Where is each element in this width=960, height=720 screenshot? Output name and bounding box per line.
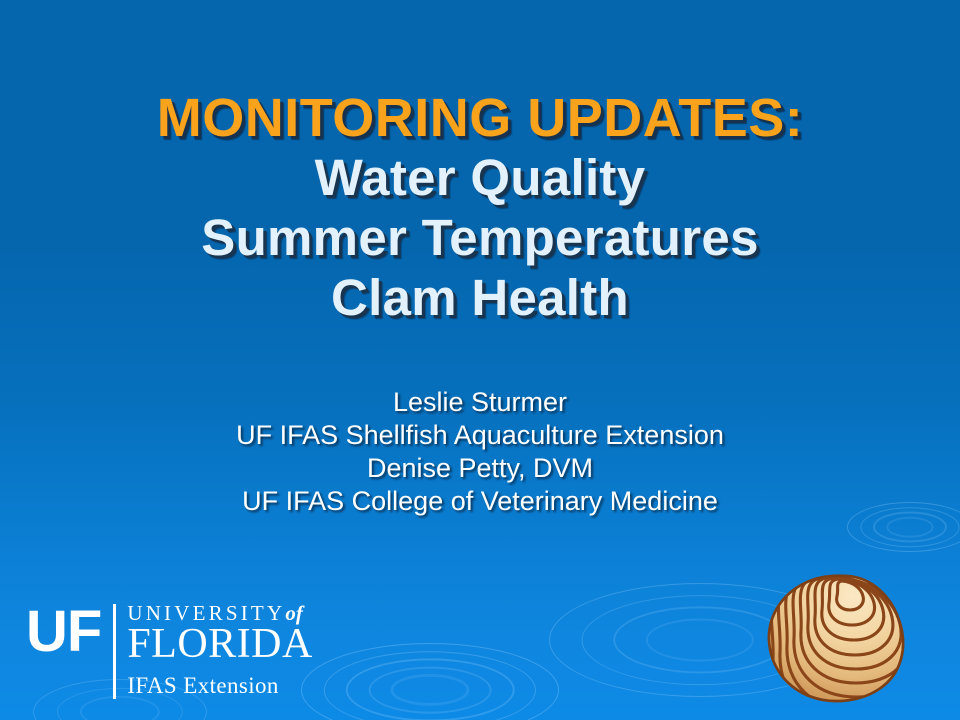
author-block: Leslie Sturmer UF IFAS Shellfish Aquacul…	[0, 386, 960, 518]
water-ripple-ring	[324, 651, 536, 720]
water-ripple-ring	[80, 696, 160, 720]
water-ripple-ring	[886, 517, 933, 538]
water-ripple-ring	[646, 619, 754, 662]
author-name-secondary: Denise Petty, DVM	[0, 452, 960, 485]
logo-divider-rule	[113, 604, 116, 699]
presentation-slide: MONITORING UPDATES: Water Quality Summer…	[0, 0, 960, 720]
uf-monogram: UF	[26, 602, 113, 660]
author-name-primary: Leslie Sturmer	[0, 386, 960, 419]
water-ripple-ring	[390, 674, 469, 706]
title-line-monitoring-updates: MONITORING UPDATES:	[0, 88, 960, 148]
uf-logo-wordmark: UNIVERSITYof FLORIDA IFAS Extension	[127, 602, 313, 699]
slide-title-block: MONITORING UPDATES: Water Quality Summer…	[0, 88, 960, 328]
uf-logo: UF UNIVERSITYof FLORIDA IFAS Extension	[26, 602, 313, 699]
author-affiliation-primary: UF IFAS Shellfish Aquaculture Extension	[0, 419, 960, 452]
logo-unit-text: IFAS Extension	[127, 673, 313, 699]
clam-shell-icon	[760, 568, 916, 708]
water-ripple-ring	[346, 658, 515, 720]
logo-florida-text: FLORIDA	[127, 624, 313, 664]
author-affiliation-secondary: UF IFAS College of Veterinary Medicine	[0, 485, 960, 518]
water-ripple-ring	[301, 643, 559, 720]
clam-shell-illustration	[760, 568, 916, 708]
title-line-summer-temperatures: Summer Temperatures	[0, 208, 960, 268]
title-line-clam-health: Clam Health	[0, 268, 960, 328]
water-ripple-ring	[369, 667, 492, 714]
title-line-water-quality: Water Quality	[0, 148, 960, 208]
